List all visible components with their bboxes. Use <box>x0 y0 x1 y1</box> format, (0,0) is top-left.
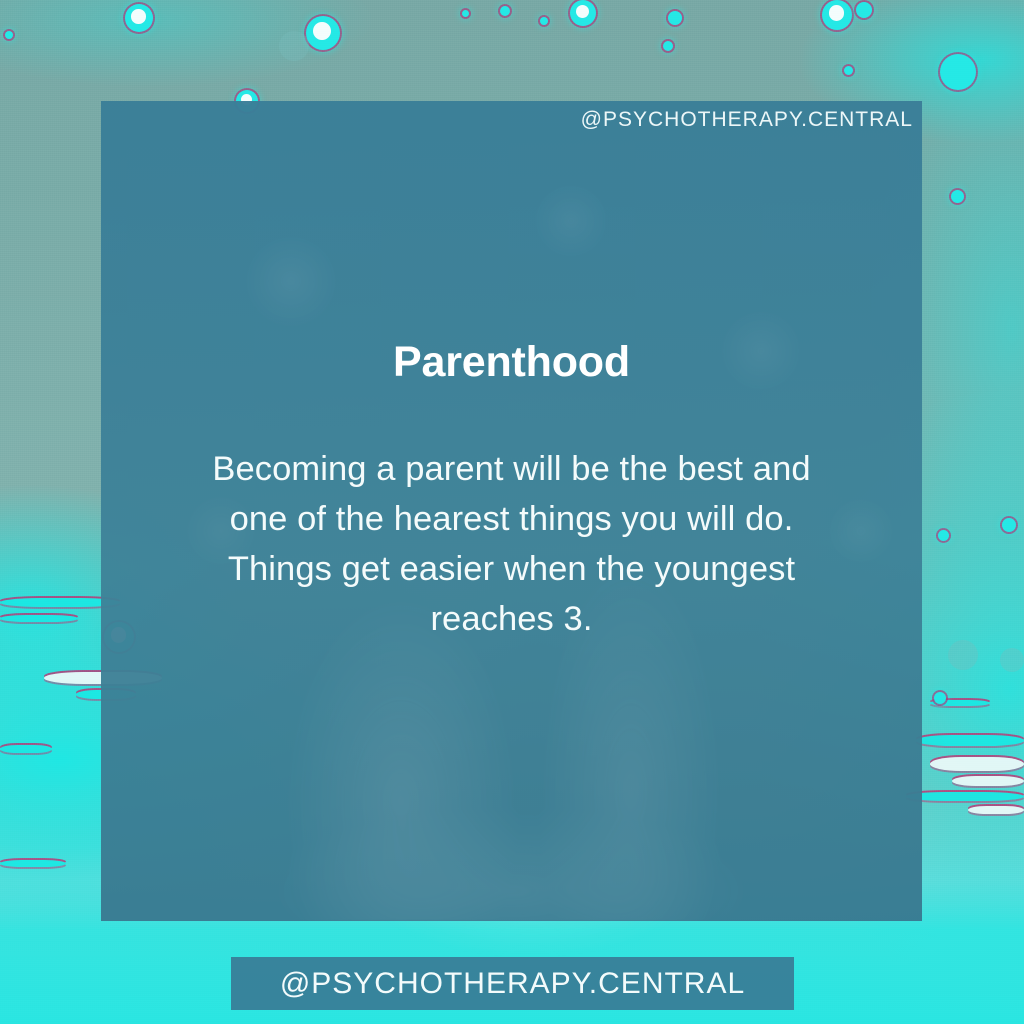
water-droplet-icon <box>5 31 13 39</box>
instagram-quote-post: @PSYCHOTHERAPY.CENTRAL Parenthood Becomi… <box>0 0 1024 1024</box>
quote-paragraph: Becoming a parent will be the best andon… <box>142 444 882 644</box>
water-droplet-icon <box>125 4 153 32</box>
water-droplet-icon <box>822 0 852 30</box>
quote-content: Parenthood Becoming a parent will be the… <box>101 339 922 644</box>
water-droplet-icon <box>856 2 872 18</box>
water-droplet-icon <box>500 6 510 16</box>
water-droplet-icon <box>934 692 946 704</box>
quote-line: one of the hearest things you will do. <box>142 494 882 544</box>
water-droplet-icon <box>663 41 673 51</box>
water-droplet-icon <box>570 0 596 26</box>
quote-card: @PSYCHOTHERAPY.CENTRAL Parenthood Becomi… <box>101 101 922 921</box>
water-droplet-icon <box>1002 518 1016 532</box>
quote-line: Things get easier when the youngest <box>142 544 882 594</box>
brand-handle-label: @PSYCHOTHERAPY.CENTRAL <box>280 969 745 999</box>
water-droplet-icon <box>279 31 309 61</box>
brand-banner-bottom: @PSYCHOTHERAPY.CENTRAL <box>231 957 794 1010</box>
water-droplet-icon <box>940 54 976 90</box>
water-droplet-icon <box>951 190 964 203</box>
water-droplet-icon <box>668 11 682 25</box>
water-droplet-icon <box>462 10 469 17</box>
water-droplet-icon <box>540 17 548 25</box>
water-droplet-icon <box>306 16 340 50</box>
water-droplet-icon <box>948 640 978 670</box>
water-droplet-icon <box>1000 648 1024 672</box>
water-droplet-icon <box>938 530 949 541</box>
water-droplet-icon <box>844 66 853 75</box>
quote-line: Becoming a parent will be the best and <box>142 444 882 494</box>
quote-line: reaches 3. <box>142 594 882 644</box>
brand-watermark-top: @PSYCHOTHERAPY.CENTRAL <box>581 109 913 130</box>
page-title: Parenthood <box>127 339 896 386</box>
